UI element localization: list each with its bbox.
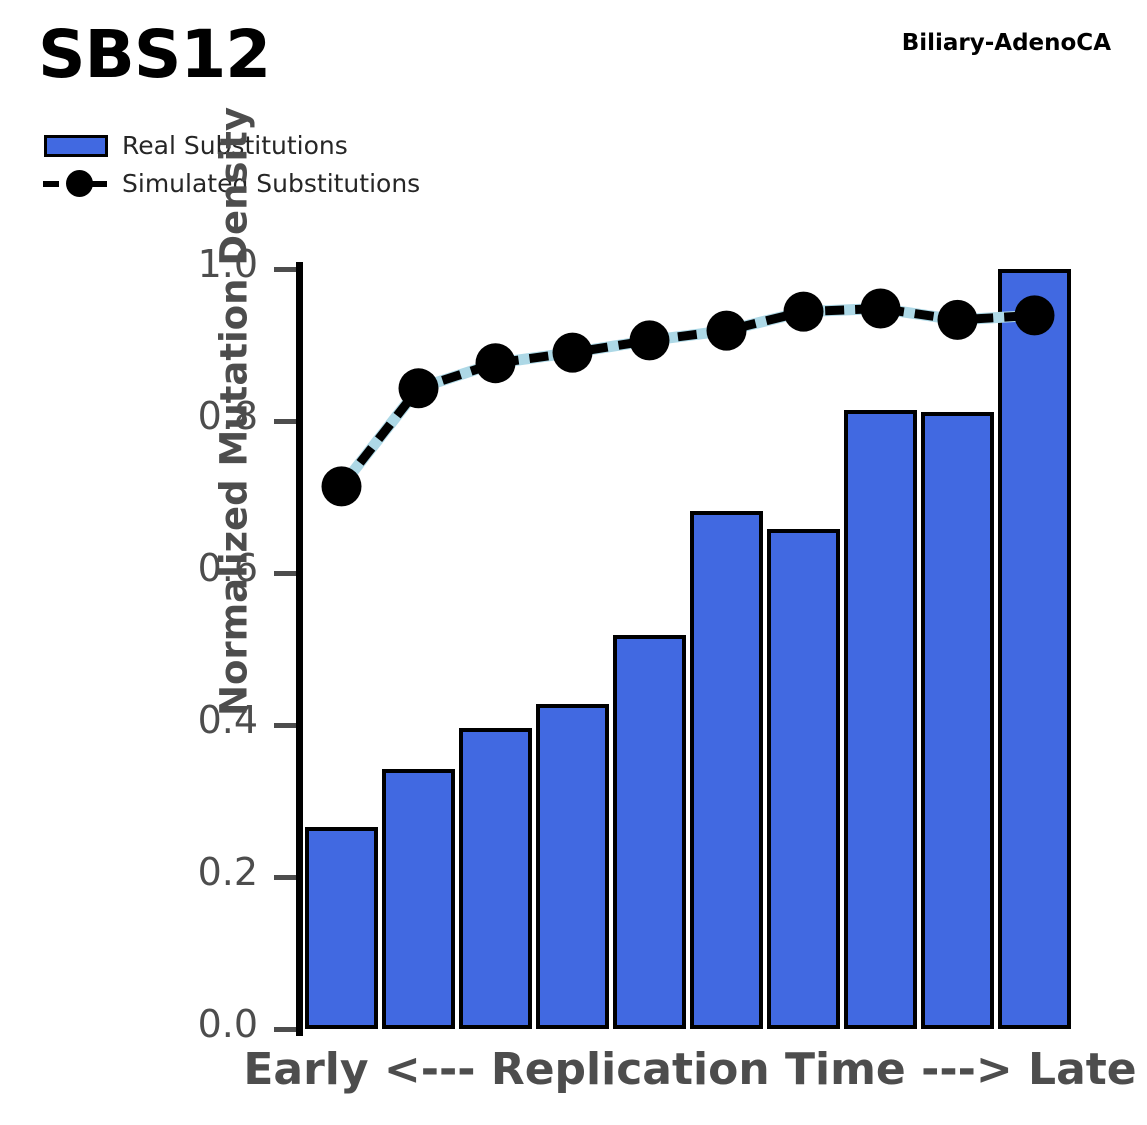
chart-legend: Real Substitutions Simulated Substitutio…: [40, 126, 560, 202]
y-tick-mark: [274, 723, 296, 728]
line-marker-dot: [399, 368, 439, 408]
y-axis-title: Normalized Mutation Density: [213, 32, 256, 792]
line-marker-dot: [476, 343, 516, 383]
line-marker-dot: [938, 300, 978, 340]
legend-item-simulated: Simulated Substitutions: [40, 164, 560, 202]
y-tick-mark: [274, 1027, 296, 1032]
dashed-line-circle-icon: [40, 168, 114, 198]
y-tick-mark: [274, 571, 296, 576]
bar-swatch-icon: [40, 130, 114, 160]
line-marker-dot: [1015, 295, 1055, 335]
plot-area: [303, 269, 1073, 1029]
y-tick-mark: [274, 875, 296, 880]
line-marker-dot: [322, 466, 362, 506]
x-axis-title: Early <--- Replication Time ---> Late: [240, 1044, 1140, 1095]
cancer-type-label: Biliary-AdenoCA: [902, 30, 1111, 56]
legend-label-simulated: Simulated Substitutions: [114, 169, 420, 198]
legend-item-real: Real Substitutions: [40, 126, 560, 164]
simulated-line-series: [303, 269, 1073, 1029]
replication-timing-chart: SBS12 Biliary-AdenoCA Real Substitutions…: [0, 0, 1147, 1125]
line-marker-dot: [784, 292, 824, 332]
y-tick-label: 0.2: [148, 850, 258, 894]
y-tick-label: 0.0: [148, 1002, 258, 1046]
line-marker-dot: [707, 311, 747, 351]
y-axis-spine: [296, 262, 303, 1036]
line-dashed: [342, 309, 1035, 487]
line-markers: [322, 289, 1055, 507]
y-tick-mark: [274, 419, 296, 424]
y-tick-mark: [274, 267, 296, 272]
line-marker-dot: [553, 333, 593, 373]
line-marker-dot: [630, 320, 670, 360]
line-marker-dot: [861, 289, 901, 329]
